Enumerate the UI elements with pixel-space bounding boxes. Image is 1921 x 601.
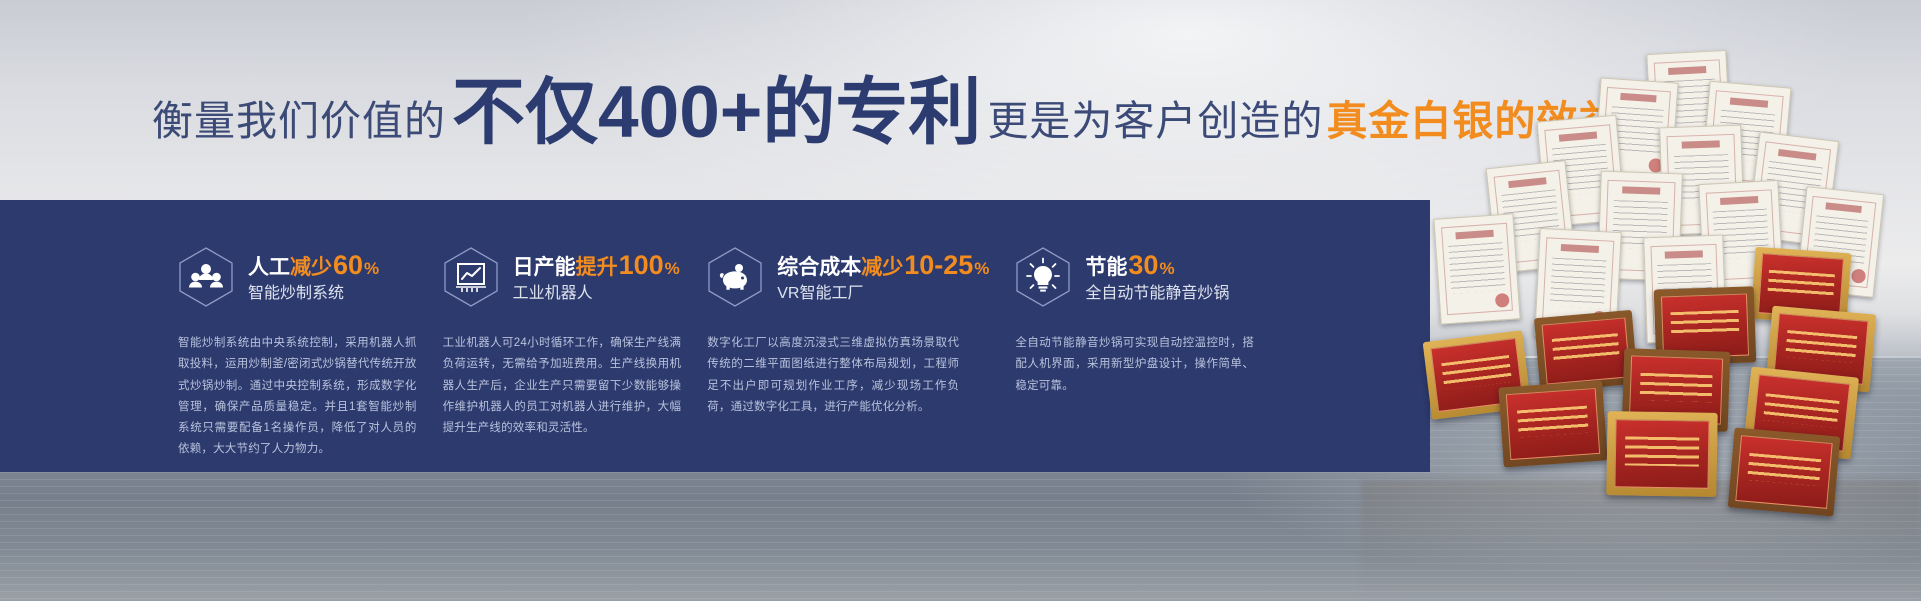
title-number: 10-25 (903, 250, 974, 280)
award-plaque (1606, 411, 1717, 497)
feature-card-header: 节能30% 全自动节能静音炒锅 (1015, 246, 1254, 308)
title-unit: % (974, 259, 989, 278)
piggy-bank-icon (707, 246, 763, 308)
title-prefix: 日产能 (513, 256, 576, 279)
feature-card-energy: 节能30% 全自动节能静音炒锅 全自动节能静音炒锅可实现自动控温控时，搭配人机界… (1015, 200, 1280, 472)
award-plaque (1728, 428, 1841, 517)
headline-strong: 不仅400+的专利 (446, 76, 987, 149)
title-unit: % (1159, 259, 1174, 278)
feature-panel: 人工减少60% 智能炒制系统 智能炒制系统由中央系统控制，采用机器人抓取投料，运… (0, 200, 1430, 472)
feature-card-list: 人工减少60% 智能炒制系统 智能炒制系统由中央系统控制，采用机器人抓取投料，运… (0, 200, 1430, 472)
title-prefix: 综合成本 (777, 256, 861, 279)
feature-card-body: 智能炒制系统由中央系统控制，采用机器人抓取投料，运用炒制釜/密闭式炒锅替代传统开… (178, 333, 417, 461)
feature-card-subtitle: VR智能工厂 (777, 286, 989, 302)
feature-card-capacity: 日产能提升100% 工业机器人 工业机器人可24小时循环工作，确保生产线满负荷运… (443, 200, 708, 472)
feature-card-header: 日产能提升100% 工业机器人 (443, 246, 682, 308)
award-plaque (1498, 380, 1607, 467)
people-group-icon (178, 246, 234, 308)
feature-card-subtitle: 智能炒制系统 (248, 286, 379, 302)
feature-card-title: 人工减少60% (248, 252, 379, 279)
title-unit: % (665, 259, 680, 278)
title-prefix: 人工 (248, 256, 290, 279)
title-prefix: 节能 (1085, 256, 1127, 279)
feature-card-titles: 综合成本减少10-25% VR智能工厂 (777, 252, 989, 302)
title-number: 60 (332, 250, 364, 280)
feature-card-titles: 日产能提升100% 工业机器人 (513, 252, 680, 302)
title-highlight: 减少 (861, 256, 903, 279)
feature-card-title: 日产能提升100% (513, 252, 680, 279)
chart-board-icon (443, 246, 499, 308)
feature-card-header: 综合成本减少10-25% VR智能工厂 (707, 246, 989, 308)
promotional-banner: 衡量我们价值的 不仅400+的专利 更是为客户创造的 真金白银的效益 (0, 0, 1921, 601)
feature-card-subtitle: 全自动节能静音炒锅 (1085, 286, 1229, 302)
feature-card-subtitle: 工业机器人 (513, 286, 680, 302)
feature-card-titles: 节能30% 全自动节能静音炒锅 (1085, 252, 1229, 302)
lightbulb-icon (1015, 246, 1071, 308)
title-highlight: 提升 (576, 256, 618, 279)
headline-lead: 衡量我们价值的 (152, 101, 446, 149)
title-highlight: 减少 (290, 256, 332, 279)
certificate-collection-image (1361, 40, 1921, 520)
feature-card-cost: 综合成本减少10-25% VR智能工厂 数字化工厂以高度沉浸式三维虚拟仿真场景取… (707, 200, 1015, 472)
title-number: 100 (618, 250, 665, 280)
feature-card-body: 工业机器人可24小时循环工作，确保生产线满负荷运转，无需给予加班费用。生产线换用… (443, 333, 682, 439)
feature-card-body: 数字化工厂以高度沉浸式三维虚拟仿真场景取代传统的二维平面图纸进行整体布局规划，工… (707, 333, 959, 418)
feature-card-title: 节能30% (1085, 252, 1229, 279)
feature-card-title: 综合成本减少10-25% (777, 252, 989, 279)
title-unit: % (364, 259, 379, 278)
feature-card-titles: 人工减少60% 智能炒制系统 (248, 252, 379, 302)
certificate-paper (1433, 213, 1520, 324)
feature-card-labor: 人工减少60% 智能炒制系统 智能炒制系统由中央系统控制，采用机器人抓取投料，运… (178, 200, 443, 472)
title-number: 30 (1127, 250, 1159, 280)
feature-card-header: 人工减少60% 智能炒制系统 (178, 246, 417, 308)
headline-tail: 更是为客户创造的 (987, 101, 1323, 149)
feature-card-body: 全自动节能静音炒锅可实现自动控温控时，搭配人机界面，采用新型炉盘设计，操作简单、… (1015, 333, 1254, 397)
